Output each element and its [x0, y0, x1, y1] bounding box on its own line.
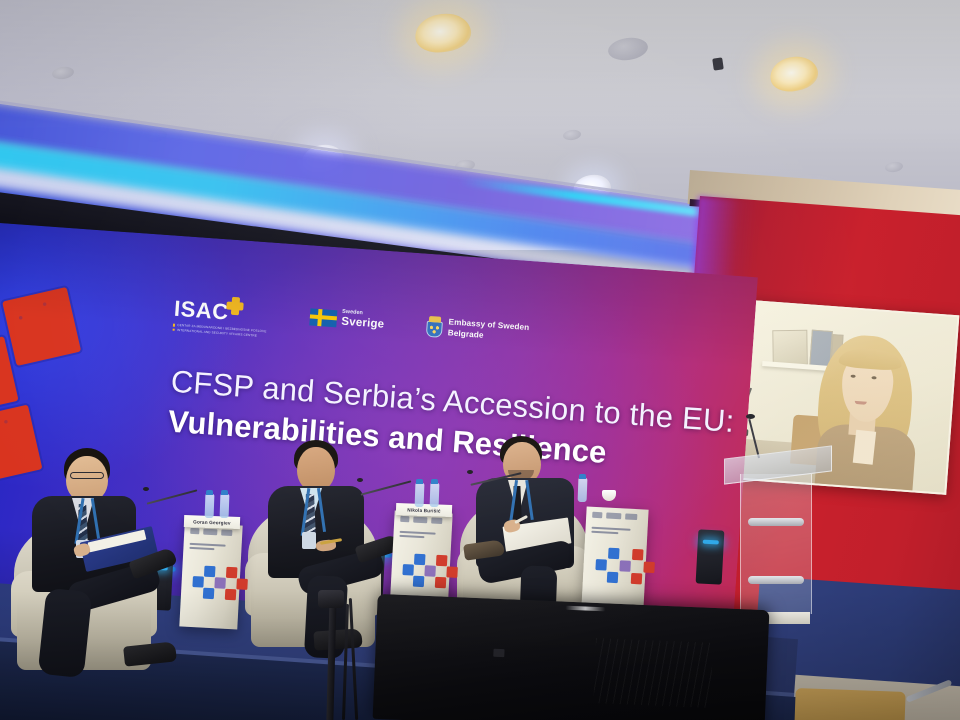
lectern-crossbar — [748, 576, 804, 584]
panelist-left — [24, 448, 194, 680]
podium-event-text — [399, 531, 446, 542]
bottle-cap — [579, 474, 586, 479]
glasses-icon — [70, 472, 104, 479]
ceiling-sensor-icon — [712, 57, 724, 70]
panel-side-table — [179, 523, 242, 630]
leg-lower — [38, 588, 93, 678]
microphone-icon — [467, 470, 473, 474]
water-bottle — [415, 483, 425, 507]
water-bottle — [578, 478, 588, 502]
lectern-panel — [740, 474, 812, 614]
podium-diamond-graphic — [594, 547, 634, 585]
acrylic-lectern — [724, 452, 832, 622]
water-bottle — [430, 483, 440, 507]
conference-photo-scene: ISAC CENTAR ZA MEĐUNARODNE I BEZBEDNOSNE… — [0, 0, 960, 720]
podium-logo-row — [592, 512, 642, 521]
badge — [302, 532, 316, 549]
panel-side-table — [581, 506, 648, 611]
podium-diamond-graphic — [192, 565, 230, 601]
podium-diamond-graphic — [402, 553, 440, 589]
shoe — [123, 641, 177, 666]
name-card-label: Nikola Burišić — [407, 507, 441, 513]
bottle-cap — [206, 490, 213, 495]
water-bottle — [220, 494, 230, 518]
bottle-cap — [416, 479, 423, 484]
bottle-cap — [221, 490, 228, 495]
lectern-crossbar — [748, 518, 804, 526]
podium-logo-row — [400, 516, 447, 524]
microphone-icon — [746, 414, 755, 419]
podium-event-text — [591, 527, 641, 538]
microphone-icon — [143, 487, 149, 491]
name-card-center: Nikola Burišić — [396, 503, 452, 517]
tripod-head — [318, 590, 344, 608]
head — [297, 447, 335, 491]
podium-event-text — [189, 543, 236, 554]
name-card-label: Goran Georgiev — [193, 519, 231, 526]
confidence-monitor-rear — [373, 594, 770, 720]
microphone-icon — [357, 478, 363, 482]
bottle-cap — [431, 479, 438, 484]
stage-speaker-box — [696, 529, 725, 584]
podium-logo-row — [190, 528, 237, 536]
water-bottle — [205, 494, 215, 518]
shoe — [313, 628, 362, 650]
audience-chair — [794, 688, 905, 720]
